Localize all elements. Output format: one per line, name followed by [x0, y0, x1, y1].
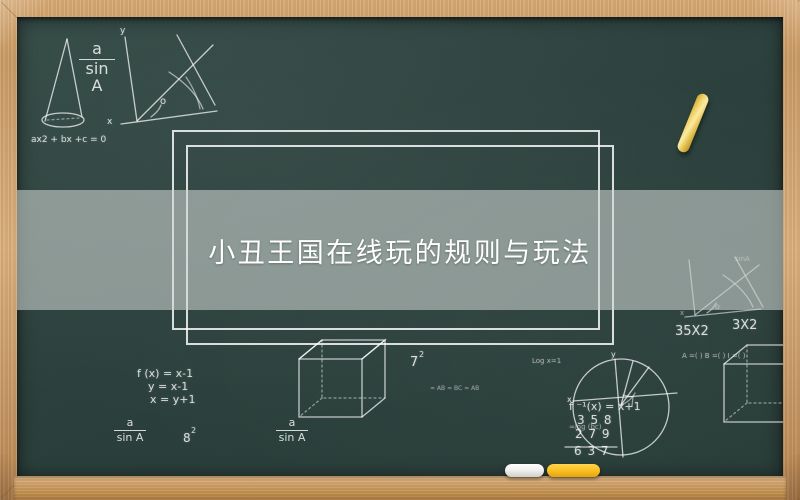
function-line-2: y = x-1	[148, 380, 188, 393]
chalk-ledge	[14, 476, 786, 500]
log-expression-right: Log x=1	[532, 357, 561, 365]
long-division-digits-row2: 2 7 9	[575, 427, 611, 441]
multiplication-35x2: 35X2	[675, 324, 709, 339]
power-7-squared: 7	[410, 355, 418, 370]
angle-label-topleft: o	[160, 96, 166, 107]
cube-drawing-right	[724, 345, 783, 422]
yellow-chalk-stick-tilted	[676, 92, 710, 154]
triangle-similarity: ≈ AB ≈ BC ≈ AB	[430, 385, 479, 392]
cone-drawing	[42, 39, 84, 127]
circle-diagram-right	[573, 359, 677, 457]
function-line-1: f (x) = x-1	[137, 367, 193, 380]
fraction-a-over-sinA-bottomleft: a sin A	[114, 417, 146, 443]
multiplication-3x2: 3X2	[732, 318, 757, 333]
power-8-squared: 8	[183, 431, 191, 445]
inverse-function: f ⁻¹(x) = x+1	[569, 400, 641, 413]
axis-label-x-right: x	[567, 395, 572, 404]
fraction-a-over-sinA-topleft: a sin A	[79, 41, 115, 94]
white-chalk-stick	[505, 464, 544, 477]
axis-label-y-topleft: y	[120, 26, 125, 36]
chalkboard-surface: a sin A ax2 + bx +c = 0 y x o f (x) = x-…	[17, 17, 783, 478]
matrix-notation: A =( ) B =( ) I =( )	[682, 352, 745, 360]
angle-axes-drawing-left	[121, 35, 217, 124]
axis-label-x2-right: x	[680, 309, 684, 317]
power-8-exponent: 2	[191, 426, 196, 435]
page-title: 小丑王国在线玩的规则与玩法	[17, 190, 783, 310]
screenshot-canvas: a sin A ax2 + bx +c = 0 y x o f (x) = x-…	[0, 0, 800, 500]
long-division-digits-row3: 6 3 7	[574, 444, 610, 458]
log-expression-bottom: ≈log (bc)	[569, 423, 602, 431]
cube-drawing-center	[299, 340, 385, 417]
yellow-chalk-stick	[547, 464, 600, 477]
long-division-digits-row1: 3 5 8	[577, 413, 613, 427]
fraction-a-over-sinA-center: a sin A	[276, 417, 308, 443]
power-7-exponent: 2	[419, 350, 424, 359]
axis-label-y-right: y	[611, 350, 616, 359]
axis-label-x-topleft: x	[107, 117, 112, 127]
function-line-3: x = y+1	[150, 393, 195, 406]
quadratic-equation: ax2 + bx +c = 0	[31, 135, 106, 145]
